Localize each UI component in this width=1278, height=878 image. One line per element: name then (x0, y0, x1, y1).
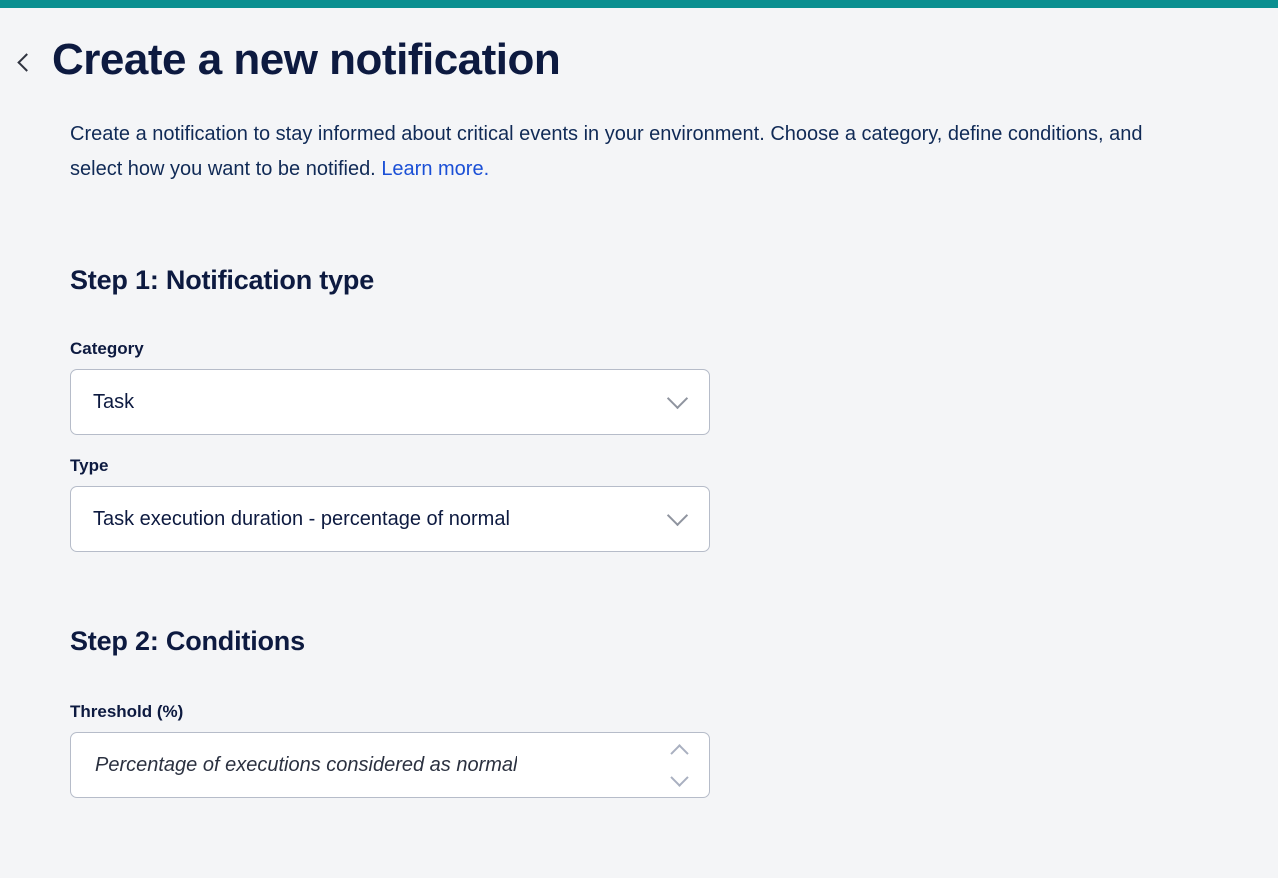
step-2-heading: Step 2: Conditions (70, 626, 1196, 657)
type-select[interactable]: Task execution duration - percentage of … (70, 486, 710, 552)
chevron-down-icon (667, 388, 688, 409)
page-header: Create a new notification (0, 8, 1278, 84)
threshold-field-group: Threshold (%) Percentage of executions c… (70, 657, 1196, 798)
description-text: Create a notification to stay informed a… (70, 123, 1142, 180)
threshold-input-wrapper[interactable]: Percentage of executions considered as n… (70, 732, 710, 798)
page-title: Create a new notification (52, 36, 560, 84)
threshold-label: Threshold (%) (70, 702, 1196, 732)
type-label: Type (70, 456, 1196, 486)
quantity-stepper[interactable] (666, 733, 692, 797)
page-container: Create a new notification Create a notif… (0, 8, 1278, 798)
category-label: Category (70, 339, 1196, 369)
chevron-down-icon (667, 505, 688, 526)
threshold-input[interactable]: Percentage of executions considered as n… (71, 755, 517, 775)
category-select-value: Task (71, 392, 134, 412)
page-content: Create a notification to stay informed a… (0, 84, 1240, 798)
top-accent-bar (0, 0, 1278, 8)
step-2-section-header: Step 2: Conditions (70, 552, 1196, 657)
type-select-value: Task execution duration - percentage of … (71, 509, 510, 529)
step-1-heading: Step 1: Notification type (70, 265, 1196, 296)
chevron-down-icon[interactable] (673, 774, 686, 787)
category-select[interactable]: Task (70, 369, 710, 435)
step-1-section-header: Step 1: Notification type (70, 187, 1196, 296)
learn-more-link[interactable]: Learn more. (381, 158, 489, 180)
category-field-group: Category Task (70, 296, 1196, 435)
page-description: Create a notification to stay informed a… (70, 84, 1196, 187)
back-button[interactable] (0, 36, 52, 69)
chevron-left-icon (17, 53, 35, 71)
type-field-group: Type Task execution duration - percentag… (70, 435, 1196, 552)
chevron-up-icon[interactable] (673, 744, 686, 757)
